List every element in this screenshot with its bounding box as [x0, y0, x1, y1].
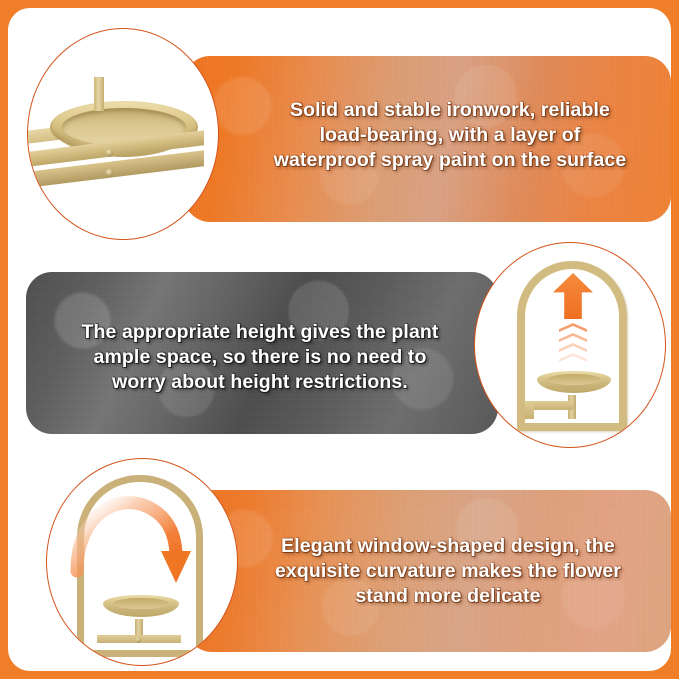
feature-text-3: Elegant window-shaped design, the exquis… [238, 534, 658, 609]
feature-panel-3: Elegant window-shaped design, the exquis… [8, 448, 671, 663]
feature-banner-3: Elegant window-shaped design, the exquis… [186, 490, 671, 652]
feature-panel-1: Solid and stable ironwork, reliable load… [8, 14, 671, 236]
feature-text-2: The appropriate height gives the plant a… [40, 320, 480, 395]
rivet-icon [136, 637, 141, 643]
feature-image-1 [27, 28, 219, 240]
wall-bracket-plate [525, 401, 534, 419]
rivet-icon [106, 149, 113, 157]
feature-banner-1: Solid and stable ironwork, reliable load… [184, 56, 671, 222]
feature-panel-2: The appropriate height gives the plant a… [8, 238, 671, 444]
infographic-root: Solid and stable ironwork, reliable load… [0, 0, 679, 679]
arch-stand-curved-arrow-photo [47, 459, 237, 665]
feature-text-1: Solid and stable ironwork, reliable load… [240, 98, 660, 173]
gold-round-tray-photo [28, 29, 218, 239]
arch-stand-up-arrow-photo [475, 243, 665, 447]
infographic-card: Solid and stable ironwork, reliable load… [8, 8, 671, 671]
tray-support-post [94, 77, 104, 111]
feature-image-3 [46, 458, 238, 666]
feature-image-2 [474, 242, 666, 448]
feature-banner-2: The appropriate height gives the plant a… [26, 272, 498, 434]
rivet-icon [106, 169, 113, 177]
arrow-curved-down-icon [63, 475, 223, 605]
